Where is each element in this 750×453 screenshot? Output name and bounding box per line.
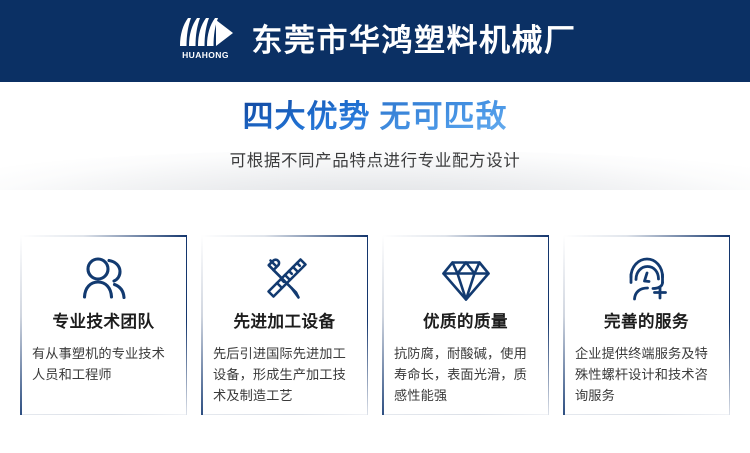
- card-description: 企业提供终端服务及特殊性螺杆设计和技术咨询服务: [575, 344, 718, 408]
- card-border-top: [382, 235, 549, 237]
- advantage-card-list: 专业技术团队 有从事塑机的专业技术人员和工程师: [20, 235, 730, 415]
- card-border-left: [201, 235, 203, 415]
- subheadline: 可根据不同产品特点进行专业配方设计: [230, 147, 521, 171]
- card-border-bottom: [382, 414, 549, 416]
- headline-light: 无可匹敌: [380, 99, 508, 135]
- card-border-right: [186, 235, 188, 415]
- advantage-card-team[interactable]: 专业技术团队 有从事塑机的专业技术人员和工程师: [20, 235, 187, 415]
- card-border-top: [201, 235, 368, 237]
- logo-wordmark: HUAHONG: [182, 51, 229, 60]
- promo-page: HUAHONG 东莞市华鸿塑料机械厂 四大优势无可匹敌 可根据不同产品特点进行专…: [0, 0, 750, 453]
- advantage-card-service[interactable]: 完善的服务 企业提供终端服务及特殊性螺杆设计和技术咨询服务: [563, 235, 730, 415]
- card-title: 专业技术团队: [53, 314, 155, 331]
- card-border-left: [563, 235, 565, 415]
- card-border-left: [382, 235, 384, 415]
- card-border-top: [20, 235, 187, 237]
- card-border-left: [20, 235, 22, 415]
- headline-strong: 四大优势: [243, 99, 371, 135]
- card-title: 优质的质量: [423, 314, 508, 331]
- site-header: HUAHONG 东莞市华鸿塑料机械厂: [0, 0, 750, 82]
- diamond-icon: [440, 253, 492, 305]
- headline: 四大优势无可匹敌: [243, 100, 508, 136]
- title-block: 四大优势无可匹敌 可根据不同产品特点进行专业配方设计: [0, 82, 750, 190]
- card-border-right: [729, 235, 731, 415]
- ruler-pencil-icon: [260, 253, 310, 305]
- card-border-bottom: [563, 414, 730, 416]
- card-border-right: [367, 235, 369, 415]
- card-description: 抗防腐，耐酸碱，使用寿命长，表面光滑，质感性能强: [394, 344, 537, 408]
- card-description: 先后引进国际先进加工设备，形成生产加工技术及制造工艺: [213, 344, 356, 408]
- company-name: 东莞市华鸿塑料机械厂: [252, 26, 577, 57]
- advantage-card-quality[interactable]: 优质的质量 抗防腐，耐酸碱，使用寿命长，表面光滑，质感性能强: [382, 235, 549, 415]
- two-people-icon: [79, 253, 129, 305]
- card-border-right: [548, 235, 550, 415]
- card-border-top: [563, 235, 730, 237]
- advantage-card-equipment[interactable]: 先进加工设备 先后引进国际先进加工设备，形成生产加工技术及制造工艺: [201, 235, 368, 415]
- huahong-sail-logo-icon: [176, 16, 236, 50]
- card-title: 先进加工设备: [234, 314, 336, 331]
- card-title: 完善的服务: [604, 314, 689, 331]
- card-border-bottom: [20, 414, 187, 416]
- card-border-bottom: [201, 414, 368, 416]
- headset-support-icon: [622, 253, 672, 305]
- card-description: 有从事塑机的专业技术人员和工程师: [32, 344, 175, 387]
- huahong-logo: HUAHONG: [174, 16, 238, 66]
- header-brand: HUAHONG 东莞市华鸿塑料机械厂: [174, 16, 577, 66]
